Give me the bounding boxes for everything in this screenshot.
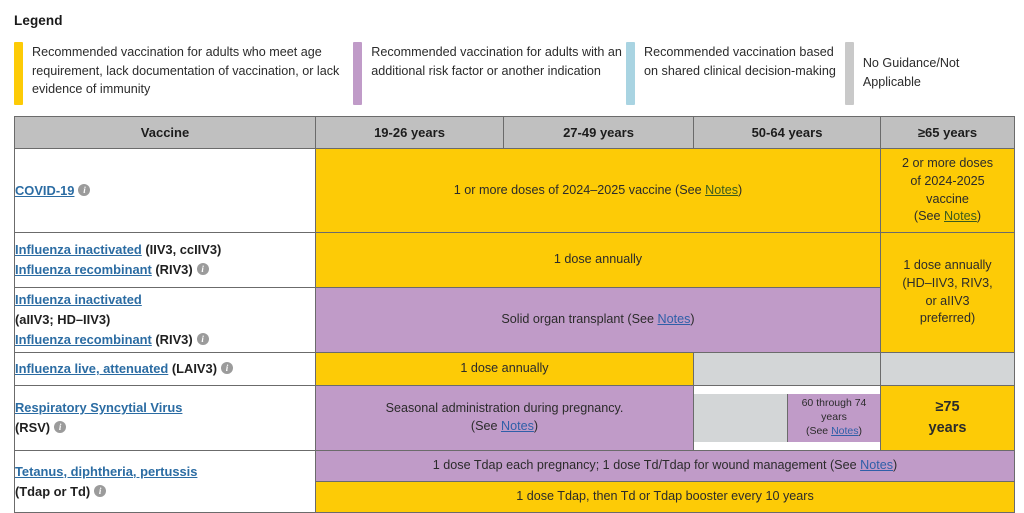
laiv-cell-50-64 (694, 353, 881, 386)
immunization-schedule-page: Legend Recommended vaccination for adult… (0, 0, 1024, 512)
vaccine-link-influenza-recombinant[interactable]: Influenza recombinant (15, 262, 152, 277)
flu-65-line3: or aIIV3 (881, 293, 1014, 311)
vaccine-cell-influenza-laiv3: Influenza live, attenuated (LAIV3)i (15, 353, 316, 386)
legend-item-shared-decision: Recommended vaccination based on shared … (626, 42, 845, 108)
table-row: COVID-19i 1 or more doses of 2024–2025 v… (15, 149, 1015, 233)
vaccine-link-influenza-inactivated[interactable]: Influenza inactivated (15, 242, 142, 257)
info-icon[interactable]: i (94, 485, 106, 497)
table-row: Respiratory Syncytial Virus (RSV)i Seaso… (15, 386, 1015, 451)
vaccine-line-3: Influenza recombinant (RIV3)i (15, 330, 315, 350)
flu-iiv-cell-19-64: 1 dose annually (316, 233, 881, 288)
rsv-line-2-post: ) (534, 419, 538, 433)
table-row: Influenza inactivated (aIIV3; HD–IIV3) I… (15, 288, 1015, 353)
covid-65-line4: (See Notes) (881, 208, 1014, 226)
vaccine-suffix-2: (RIV3) (152, 262, 193, 277)
covid-span-tail: ) (738, 183, 742, 197)
flu-65-line1: 1 dose annually (881, 257, 1014, 275)
table-header-row: Vaccine 19-26 years 27-49 years 50-64 ye… (15, 117, 1015, 149)
notes-link[interactable]: Notes (658, 312, 691, 326)
vaccine-line-2: (Tdap or Td)i (15, 482, 315, 502)
rsv-split-gray (694, 394, 787, 442)
legend-swatch-purple (353, 42, 362, 105)
legend-label-no-guidance: No Guidance/Not Applicable (854, 42, 1014, 91)
notes-link[interactable]: Notes (705, 183, 738, 197)
covid-65-line4-post: ) (977, 209, 981, 223)
rsv-line-2-pre: (See (471, 419, 501, 433)
vaccine-suffix-1: (LAIV3) (168, 361, 217, 376)
tdap-purple-post: ) (893, 458, 897, 472)
legend-swatch-gray (845, 42, 854, 105)
rsv-sub-line-3-pre: (See (806, 425, 831, 437)
rsv-cell-19-49: Seasonal administration during pregnancy… (316, 386, 694, 451)
flu-65-line2: (HD–IIV3, RIV3, (881, 275, 1014, 293)
info-icon[interactable]: i (54, 421, 66, 433)
flu-65-line4: preferred) (881, 310, 1014, 328)
vaccine-cell-influenza-inactivated-iiv3: Influenza inactivated (IIV3, ccIIV3) Inf… (15, 233, 316, 288)
info-icon[interactable]: i (197, 333, 209, 345)
vaccine-cell-influenza-inactivated-aiiv3: Influenza inactivated (aIIV3; HD–IIV3) I… (15, 288, 316, 353)
covid-65-line2: of 2024-2025 (881, 173, 1014, 191)
rsv-sub-line-3-post: ) (859, 425, 863, 437)
legend-swatch-blue (626, 42, 635, 105)
vaccine-link-influenza-live-attenuated[interactable]: Influenza live, attenuated (15, 361, 168, 376)
covid-65-line1: 2 or more doses (881, 155, 1014, 173)
vaccine-line-1: Tetanus, diphtheria, pertussis (15, 462, 315, 482)
vaccine-suffix-2: (RIV3) (152, 332, 193, 347)
table-row: Influenza live, attenuated (LAIV3)i 1 do… (15, 353, 1015, 386)
vaccine-link-influenza-inactivated[interactable]: Influenza inactivated (15, 292, 142, 307)
notes-link[interactable]: Notes (501, 419, 534, 433)
column-header-19-26: 19-26 years (316, 117, 504, 149)
vaccine-line-1: Influenza inactivated (IIV3, ccIIV3) (15, 240, 315, 260)
rsv-split-wrapper: 60 through 74 years (See Notes) (694, 394, 880, 442)
flu-adjuvanted-post: ) (690, 312, 694, 326)
legend: Recommended vaccination for adults who m… (14, 42, 1014, 108)
covid-65-line3: vaccine (881, 191, 1014, 209)
vaccine-cell-covid19: COVID-19i (15, 149, 316, 233)
rsv-sub-line-1: 60 through 74 (802, 397, 867, 411)
vaccine-link-rsv[interactable]: Respiratory Syncytial Virus (15, 400, 182, 415)
rsv-split-purple-60-74: 60 through 74 years (See Notes) (787, 394, 880, 442)
notes-link[interactable]: Notes (944, 209, 977, 223)
covid-65-line4-pre: (See (914, 209, 944, 223)
rsv-65-line2: years (881, 418, 1014, 439)
rsv-line-1: Seasonal administration during pregnancy… (316, 400, 693, 418)
vaccine-line-2: (RSV)i (15, 418, 315, 438)
rsv-sub-line-2: years (802, 411, 867, 425)
legend-heading: Legend (14, 13, 63, 28)
vaccine-link-tetanus-diphtheria-pertussis[interactable]: Tetanus, diphtheria, pertussis (15, 464, 197, 479)
tdap-cell-booster: 1 dose Tdap, then Td or Tdap booster eve… (316, 482, 1015, 513)
vaccine-line-1: Influenza inactivated (15, 290, 315, 310)
legend-item-risk-factor: Recommended vaccination for adults with … (353, 42, 626, 108)
covid-cell-19-64: 1 or more doses of 2024–2025 vaccine (Se… (316, 149, 881, 233)
flu-adjuvanted-pre: Solid organ transplant (See (501, 312, 657, 326)
laiv-cell-65-plus (881, 353, 1015, 386)
legend-label-shared-decision: Recommended vaccination based on shared … (635, 42, 845, 80)
legend-label-recommended-age: Recommended vaccination for adults who m… (23, 42, 353, 99)
flu-adjuvanted-cell-19-64: Solid organ transplant (See Notes) (316, 288, 881, 353)
table-row: Tetanus, diphtheria, pertussis (Tdap or … (15, 451, 1015, 482)
notes-link[interactable]: Notes (831, 425, 858, 437)
legend-item-recommended-age: Recommended vaccination for adults who m… (14, 42, 353, 108)
legend-label-risk-factor: Recommended vaccination for adults with … (362, 42, 626, 80)
covid-span-text: 1 or more doses of 2024–2025 vaccine (Se… (454, 183, 705, 197)
legend-swatch-yellow (14, 42, 23, 105)
vaccine-suffix-1: (RSV) (15, 420, 50, 435)
rsv-65-line1: ≥75 (881, 397, 1014, 418)
flu-cell-65-plus: 1 dose annually (HD–IIV3, RIV3, or aIIV3… (881, 233, 1015, 353)
notes-link[interactable]: Notes (860, 458, 893, 472)
rsv-line-2: (See Notes) (316, 418, 693, 436)
rsv-sub-block: 60 through 74 years (See Notes) (802, 397, 867, 439)
info-icon[interactable]: i (78, 184, 90, 196)
vaccine-schedule-table: Vaccine 19-26 years 27-49 years 50-64 ye… (14, 116, 1015, 513)
vaccine-cell-tdap: Tetanus, diphtheria, pertussis (Tdap or … (15, 451, 316, 513)
vaccine-cell-rsv: Respiratory Syncytial Virus (RSV)i (15, 386, 316, 451)
column-header-50-64: 50-64 years (694, 117, 881, 149)
vaccine-suffix-1: (IIV3, ccIIV3) (142, 242, 222, 257)
column-header-vaccine: Vaccine (15, 117, 316, 149)
covid-cell-65-plus: 2 or more doses of 2024-2025 vaccine (Se… (881, 149, 1015, 233)
column-header-65-plus: ≥65 years (881, 117, 1015, 149)
laiv-cell-19-49: 1 dose annually (316, 353, 694, 386)
vaccine-line-1: Respiratory Syncytial Virus (15, 398, 315, 418)
info-icon[interactable]: i (197, 263, 209, 275)
rsv-cell-65-plus: ≥75 years (881, 386, 1015, 451)
rsv-cell-50-64: 60 through 74 years (See Notes) (694, 386, 881, 451)
tdap-purple-pre: 1 dose Tdap each pregnancy; 1 dose Td/Td… (433, 458, 860, 472)
legend-item-no-guidance: No Guidance/Not Applicable (845, 42, 1014, 108)
column-header-27-49: 27-49 years (504, 117, 694, 149)
table-row: Influenza inactivated (IIV3, ccIIV3) Inf… (15, 233, 1015, 288)
vaccine-line-2: Influenza recombinant (RIV3)i (15, 260, 315, 280)
tdap-cell-pregnancy: 1 dose Tdap each pregnancy; 1 dose Td/Td… (316, 451, 1015, 482)
rsv-sub-line-3: (See Notes) (802, 425, 867, 439)
vaccine-suffix-1: (Tdap or Td) (15, 484, 90, 499)
vaccine-line-2: (aIIV3; HD–IIV3) (15, 310, 315, 329)
info-icon[interactable]: i (221, 362, 233, 374)
vaccine-link-influenza-recombinant[interactable]: Influenza recombinant (15, 332, 152, 347)
vaccine-link-covid19[interactable]: COVID-19 (15, 183, 74, 198)
